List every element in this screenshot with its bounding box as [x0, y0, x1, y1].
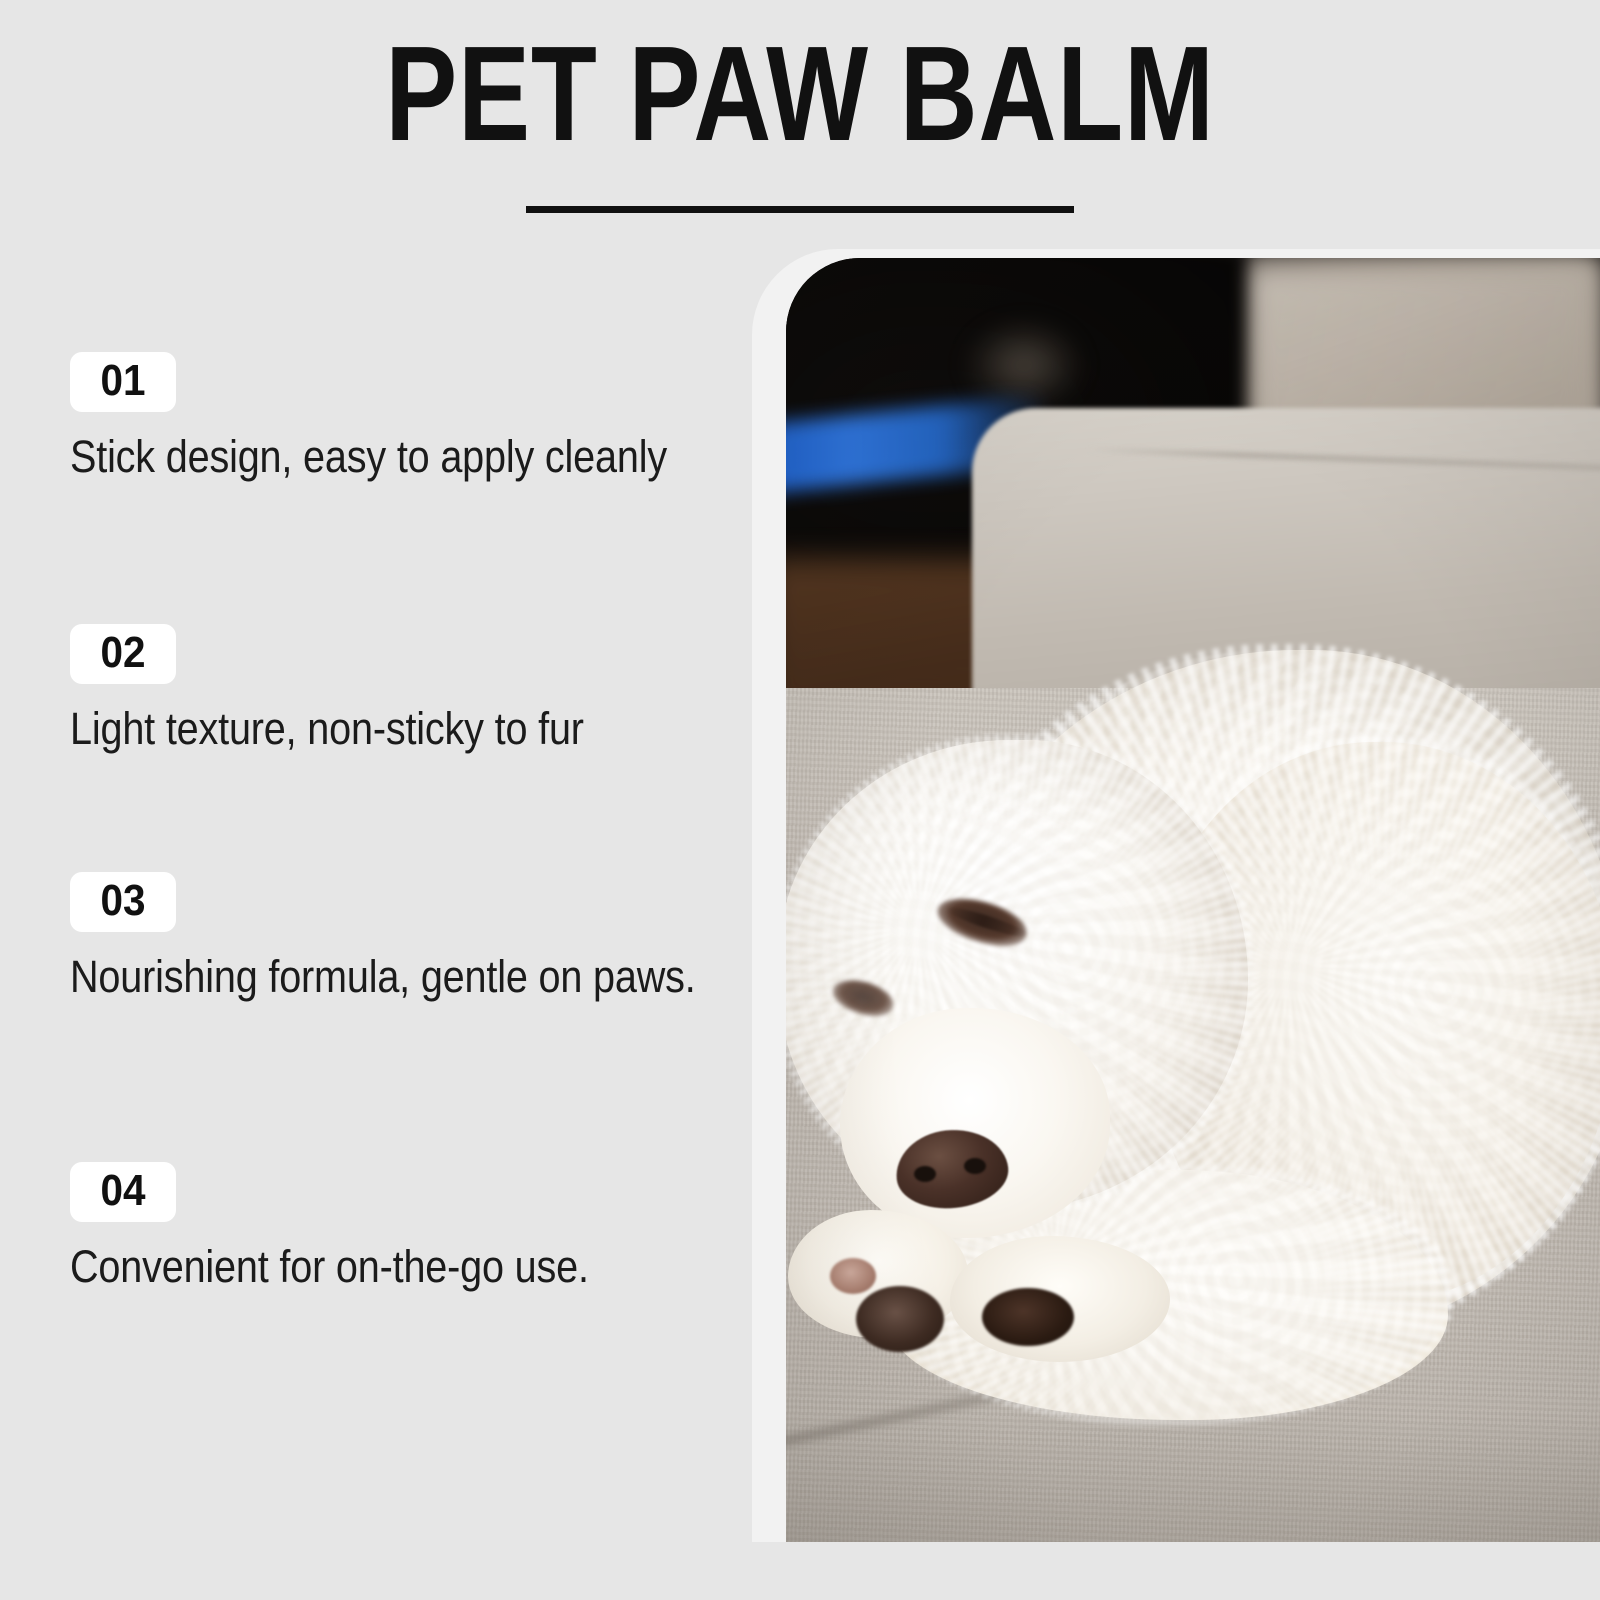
feature-text: Light texture, non-sticky to fur [70, 698, 721, 760]
list-item: 04 Convenient for on-the-go use. [70, 1162, 730, 1298]
list-item: 01 Stick design, easy to apply cleanly [70, 352, 730, 488]
feature-text: Convenient for on-the-go use. [70, 1236, 721, 1298]
feature-number: 02 [94, 628, 151, 678]
dog-illustration [786, 610, 1600, 1420]
dog-nostril [964, 1158, 986, 1174]
feature-number: 01 [94, 356, 151, 406]
feature-number: 04 [94, 1166, 151, 1216]
feature-number: 03 [94, 876, 151, 926]
feature-number-badge: 04 [70, 1162, 176, 1222]
feature-number-badge: 01 [70, 352, 176, 412]
product-feature-poster: PET PAW BALM 01 Stick design, easy to ap… [0, 0, 1600, 1600]
photo-scene [786, 258, 1600, 1542]
dog-paw-pad [982, 1288, 1074, 1346]
feature-text: Stick design, easy to apply cleanly [70, 426, 721, 488]
title-underline-rule [526, 206, 1074, 213]
feature-text: Nourishing formula, gentle on paws. [70, 946, 721, 1008]
product-photo-card [752, 249, 1600, 1542]
feature-number-badge: 02 [70, 624, 176, 684]
feature-number-badge: 03 [70, 872, 176, 932]
list-item: 03 Nourishing formula, gentle on paws. [70, 872, 730, 1008]
page-title: PET PAW BALM [160, 26, 1440, 161]
list-item: 02 Light texture, non-sticky to fur [70, 624, 730, 760]
product-photo [786, 258, 1600, 1542]
dog-paw-pad [856, 1286, 944, 1352]
title-block: PET PAW BALM [0, 26, 1600, 213]
couch-shadow [786, 1412, 1600, 1542]
dog-paw-pad [830, 1258, 876, 1294]
dog-nostril [914, 1166, 936, 1182]
